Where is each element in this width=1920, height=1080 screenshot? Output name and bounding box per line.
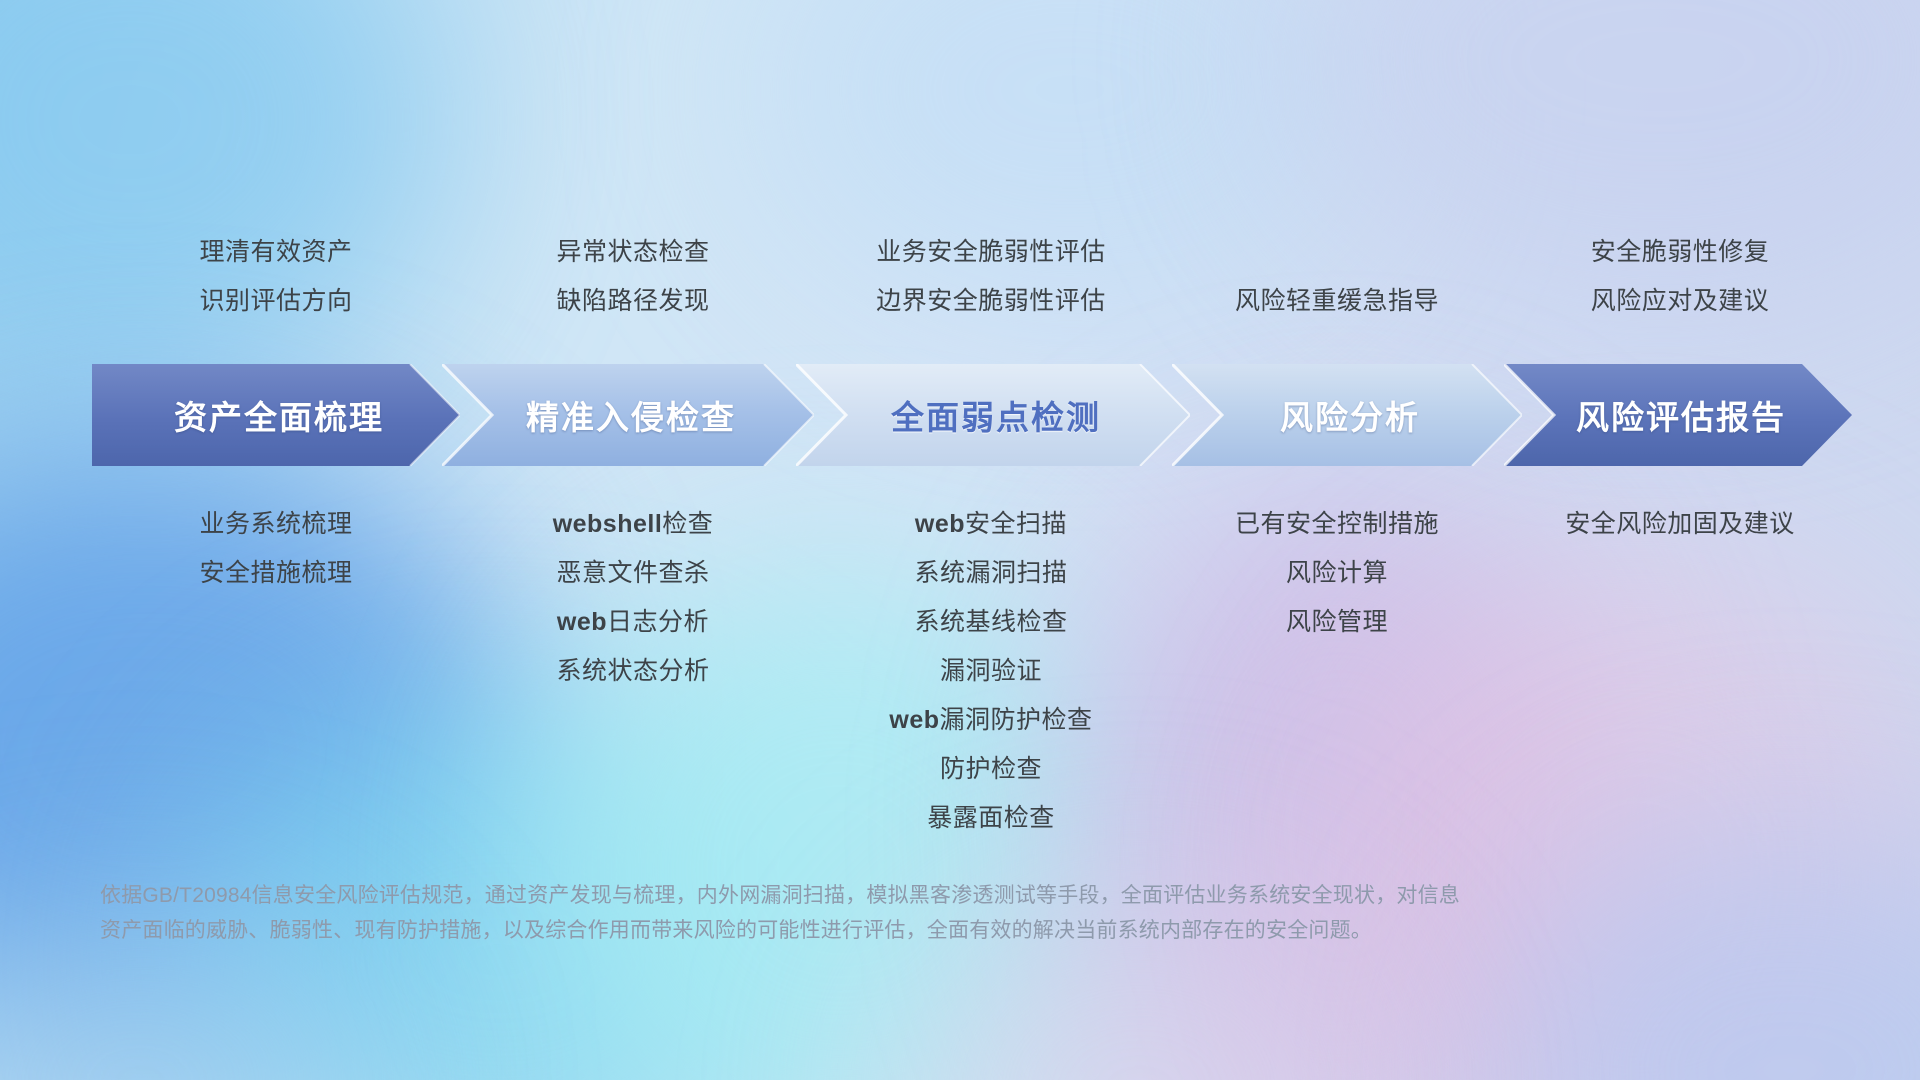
activity-item: 系统状态分析 bbox=[460, 647, 806, 696]
chevron-stage-asset-inventory[interactable]: 资产全面梳理 bbox=[92, 364, 460, 466]
activity-item: web日志分析 bbox=[460, 598, 806, 647]
chevron-label: 资产全面梳理 bbox=[168, 391, 384, 439]
activity-item: web安全扫描 bbox=[806, 500, 1176, 549]
stage-outcomes-weakness-detection: 业务安全脆弱性评估 边界安全脆弱性评估 bbox=[806, 228, 1176, 375]
activity-item: 风险计算 bbox=[1176, 549, 1498, 598]
activity-item: 暴露面检查 bbox=[806, 794, 1176, 843]
outcome-item: 边界安全脆弱性评估 bbox=[806, 277, 1176, 326]
activity-item: 风险管理 bbox=[1176, 598, 1498, 647]
stage-activities-asset-inventory: 业务系统梳理 安全措施梳理 bbox=[92, 500, 460, 598]
chevron-stage-weakness-detection[interactable]: 全面弱点检测 bbox=[796, 364, 1190, 466]
activity-item: webshell检查 bbox=[460, 500, 806, 549]
activity-item: 业务系统梳理 bbox=[92, 500, 460, 549]
stage-outcomes-row: 理清有效资产 识别评估方向 异常状态检查 缺陷路径发现 业务安全脆弱性评估 边界… bbox=[0, 228, 1920, 375]
chevron-label: 风险分析 bbox=[1274, 391, 1420, 439]
chevron-stage-assessment-report[interactable]: 风险评估报告 bbox=[1504, 364, 1852, 466]
stage-activities-assessment-report: 安全风险加固及建议 bbox=[1498, 500, 1862, 549]
activity-item: 系统漏洞扫描 bbox=[806, 549, 1176, 598]
stage-activities-row: 业务系统梳理 安全措施梳理 webshell检查 恶意文件查杀 web日志分析 … bbox=[0, 500, 1920, 843]
activity-item: 系统基线检查 bbox=[806, 598, 1176, 647]
infographic-canvas: 理清有效资产 识别评估方向 异常状态检查 缺陷路径发现 业务安全脆弱性评估 边界… bbox=[0, 0, 1920, 1080]
chevron-label: 风险评估报告 bbox=[1570, 391, 1786, 439]
activity-item: 安全风险加固及建议 bbox=[1498, 500, 1862, 549]
outcome-item: 安全脆弱性修复 bbox=[1498, 228, 1862, 277]
activity-item: web漏洞防护检查 bbox=[806, 696, 1176, 745]
activity-item: 漏洞验证 bbox=[806, 647, 1176, 696]
process-chevron-band: 资产全面梳理 bbox=[92, 364, 1852, 466]
footer-line-2: 资产面临的威胁、脆弱性、现有防护措施，以及综合作用而带来风险的可能性进行评估，全… bbox=[100, 913, 1660, 948]
stage-outcomes-assessment-report: 安全脆弱性修复 风险应对及建议 bbox=[1498, 228, 1862, 375]
outcome-item: 理清有效资产 bbox=[92, 228, 460, 277]
chevron-label: 全面弱点检测 bbox=[885, 391, 1101, 439]
stage-outcomes-intrusion-check: 异常状态检查 缺陷路径发现 bbox=[460, 228, 806, 375]
chevron-label: 精准入侵检查 bbox=[520, 391, 736, 439]
stage-outcomes-risk-analysis: 风险轻重缓急指导 bbox=[1176, 228, 1498, 375]
activity-item: 防护检查 bbox=[806, 745, 1176, 794]
footer-line-1: 依据GB/T20984信息安全风险评估规范，通过资产发现与梳理，内外网漏洞扫描，… bbox=[100, 878, 1660, 913]
stage-activities-risk-analysis: 已有安全控制措施 风险计算 风险管理 bbox=[1176, 500, 1498, 647]
activity-item: 安全措施梳理 bbox=[92, 549, 460, 598]
stage-activities-intrusion-check: webshell检查 恶意文件查杀 web日志分析 系统状态分析 bbox=[460, 500, 806, 696]
chevron-stage-intrusion-check[interactable]: 精准入侵检查 bbox=[442, 364, 814, 466]
activity-item: 已有安全控制措施 bbox=[1176, 500, 1498, 549]
activity-item: 恶意文件查杀 bbox=[460, 549, 806, 598]
outcome-item: 异常状态检查 bbox=[460, 228, 806, 277]
footer-description: 依据GB/T20984信息安全风险评估规范，通过资产发现与梳理，内外网漏洞扫描，… bbox=[100, 878, 1660, 948]
outcome-item: 风险应对及建议 bbox=[1498, 277, 1862, 326]
outcome-item: 风险轻重缓急指导 bbox=[1176, 277, 1498, 326]
chevron-stage-risk-analysis[interactable]: 风险分析 bbox=[1172, 364, 1522, 466]
stage-outcomes-asset-inventory: 理清有效资产 识别评估方向 bbox=[92, 228, 460, 375]
outcome-item: 缺陷路径发现 bbox=[460, 277, 806, 326]
outcome-item: 业务安全脆弱性评估 bbox=[806, 228, 1176, 277]
stage-activities-weakness-detection: web安全扫描 系统漏洞扫描 系统基线检查 漏洞验证 web漏洞防护检查 防护检… bbox=[806, 500, 1176, 843]
outcome-item: 识别评估方向 bbox=[92, 277, 460, 326]
